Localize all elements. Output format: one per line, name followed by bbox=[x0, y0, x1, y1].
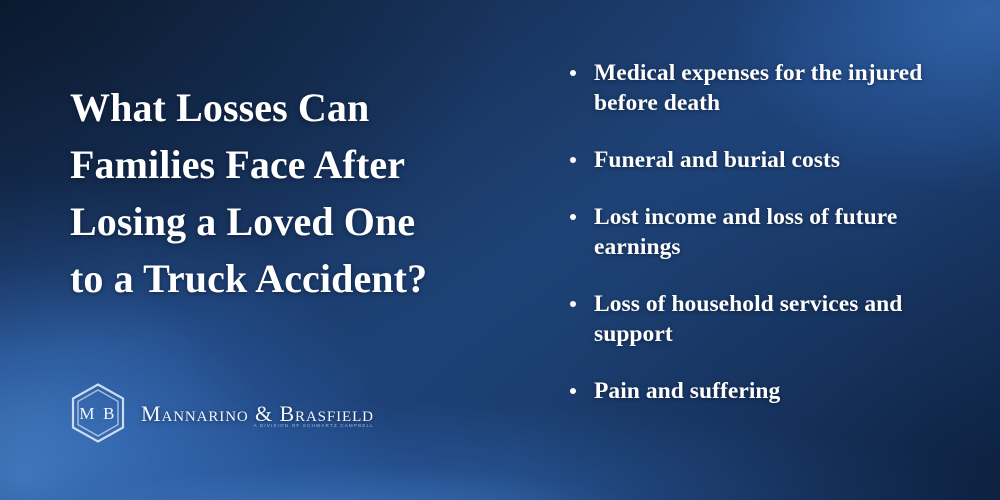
headline-line-2: Families Face After bbox=[70, 136, 510, 193]
brand-logo: M B Mannarino & Brasfield A DIVISION OF … bbox=[68, 382, 374, 444]
logo-wordmark-group: Mannarino & Brasfield A DIVISION OF SCHW… bbox=[141, 399, 374, 427]
slide-canvas: What Losses Can Families Face After Losi… bbox=[0, 0, 1000, 500]
headline-line-3: Losing a Loved One bbox=[70, 193, 510, 250]
bullet-dot-icon bbox=[570, 157, 576, 163]
list-item: Pain and suffering bbox=[566, 376, 966, 406]
page-title: What Losses Can Families Face After Losi… bbox=[70, 79, 510, 307]
logo-monogram-text: M B bbox=[79, 404, 116, 423]
list-item-label: Pain and suffering bbox=[594, 378, 780, 404]
bullet-dot-icon bbox=[570, 70, 576, 76]
headline-line-1: What Losses Can bbox=[70, 79, 510, 136]
list-item: Medical expenses for the injured before … bbox=[566, 58, 966, 118]
list-item: Loss of household services and support bbox=[566, 289, 966, 349]
bullet-dot-icon bbox=[570, 214, 576, 220]
bullet-dot-icon bbox=[570, 301, 576, 307]
bullet-dot-icon bbox=[570, 388, 576, 394]
list-item-label: Funeral and burial costs bbox=[594, 147, 840, 173]
list-item-label: Medical expenses for the injured before … bbox=[594, 60, 922, 116]
logo-tagline: A DIVISION OF SCHWARTZ CAMPBELL bbox=[254, 423, 374, 428]
loss-types-list: Medical expenses for the injured before … bbox=[566, 58, 966, 406]
list-item-label: Lost income and loss of future earnings bbox=[594, 204, 897, 260]
headline-line-4: to a Truck Accident? bbox=[70, 250, 510, 307]
list-item: Lost income and loss of future earnings bbox=[566, 202, 966, 262]
list-item-label: Loss of household services and support bbox=[594, 291, 902, 347]
list-item: Funeral and burial costs bbox=[566, 145, 966, 175]
hexagon-monogram-icon: M B bbox=[68, 382, 128, 444]
